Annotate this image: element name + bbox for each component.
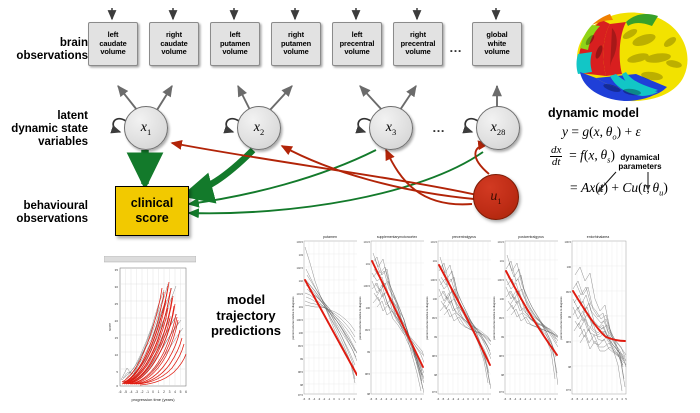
figure-canvas: brainobservations latentdynamic statevar…: [0, 0, 700, 413]
annotation-arrow-layer: [0, 0, 700, 413]
